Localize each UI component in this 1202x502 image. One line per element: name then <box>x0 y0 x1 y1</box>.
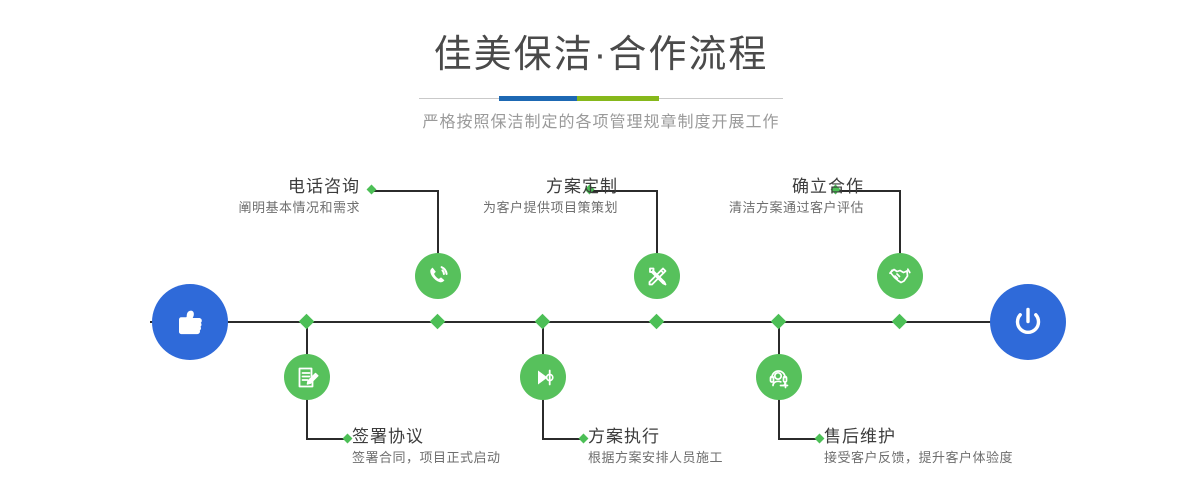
connector-horizontal-step-2 <box>306 438 346 440</box>
handshake-icon <box>886 262 914 290</box>
step-name-5: 确立合作 <box>729 176 864 198</box>
step-node-3[interactable] <box>634 253 680 299</box>
step-label-6: 售后维护 接受客户反馈，提升客户体验度 <box>824 426 1013 468</box>
step-label-2: 签署协议 签署合同，项目正式启动 <box>352 426 501 468</box>
step-desc-6: 接受客户反馈，提升客户体验度 <box>824 448 1013 468</box>
header: 佳美保洁·合作流程 严格按照保洁制定的各项管理规章制度开展工作 <box>0 0 1202 131</box>
step-name-1: 电话咨询 <box>238 176 360 198</box>
timeline-axis <box>150 321 1052 323</box>
divider-segment-green <box>577 96 659 101</box>
step-node-4[interactable] <box>520 354 566 400</box>
axis-diamond-step-2 <box>299 314 315 330</box>
axis-diamond-step-1 <box>430 314 446 330</box>
step-desc-4: 根据方案安排人员施工 <box>588 448 723 468</box>
cooperation-process-infographic: 佳美保洁·合作流程 严格按照保洁制定的各项管理规章制度开展工作 <box>0 0 1202 502</box>
pointing-hand-icon <box>170 302 210 342</box>
label-marker-step-1 <box>367 185 377 195</box>
pencil-ruler-icon <box>644 263 671 290</box>
step-name-6: 售后维护 <box>824 426 1013 448</box>
connector-horizontal-step-1 <box>372 190 438 192</box>
step-node-2[interactable] <box>284 354 330 400</box>
connector-horizontal-step-4 <box>542 438 582 440</box>
page-subtitle: 严格按照保洁制定的各项管理规章制度开展工作 <box>0 101 1202 131</box>
step-node-1[interactable] <box>415 253 461 299</box>
axis-diamond-step-5 <box>892 314 908 330</box>
axis-diamond-step-4 <box>535 314 551 330</box>
page-title: 佳美保洁·合作流程 <box>0 0 1202 74</box>
phone-call-icon <box>424 262 452 290</box>
step-node-5[interactable] <box>877 253 923 299</box>
label-marker-step-6 <box>815 434 825 444</box>
process-timeline: 电话咨询 阐明基本情况和需求 签署协议 签署合同，项目正式启动 <box>0 150 1202 502</box>
step-label-1: 电话咨询 阐明基本情况和需求 <box>238 176 360 218</box>
step-name-2: 签署协议 <box>352 426 501 448</box>
timeline-start-node <box>152 284 228 360</box>
power-icon <box>1007 301 1049 343</box>
divider-segment-blue <box>499 96 577 101</box>
step-node-6[interactable] <box>756 354 802 400</box>
step-desc-1: 阐明基本情况和需求 <box>238 198 360 218</box>
step-label-4: 方案执行 根据方案安排人员施工 <box>588 426 723 468</box>
play-execute-icon <box>530 364 557 391</box>
step-name-3: 方案定制 <box>483 176 618 198</box>
label-marker-step-4 <box>579 434 589 444</box>
axis-diamond-step-3 <box>649 314 665 330</box>
timeline-end-node <box>990 284 1066 360</box>
axis-diamond-step-6 <box>771 314 787 330</box>
title-divider <box>419 96 783 101</box>
step-desc-3: 为客户提供项目策策划 <box>483 198 618 218</box>
step-desc-5: 清洁方案通过客户评估 <box>729 198 864 218</box>
step-label-3: 方案定制 为客户提供项目策策划 <box>483 176 618 218</box>
label-marker-step-2 <box>343 434 353 444</box>
customer-service-icon <box>766 364 793 391</box>
connector-horizontal-step-6 <box>778 438 818 440</box>
step-label-5: 确立合作 清洁方案通过客户评估 <box>729 176 864 218</box>
document-edit-icon <box>294 364 321 391</box>
step-desc-2: 签署合同，项目正式启动 <box>352 448 501 468</box>
step-name-4: 方案执行 <box>588 426 723 448</box>
